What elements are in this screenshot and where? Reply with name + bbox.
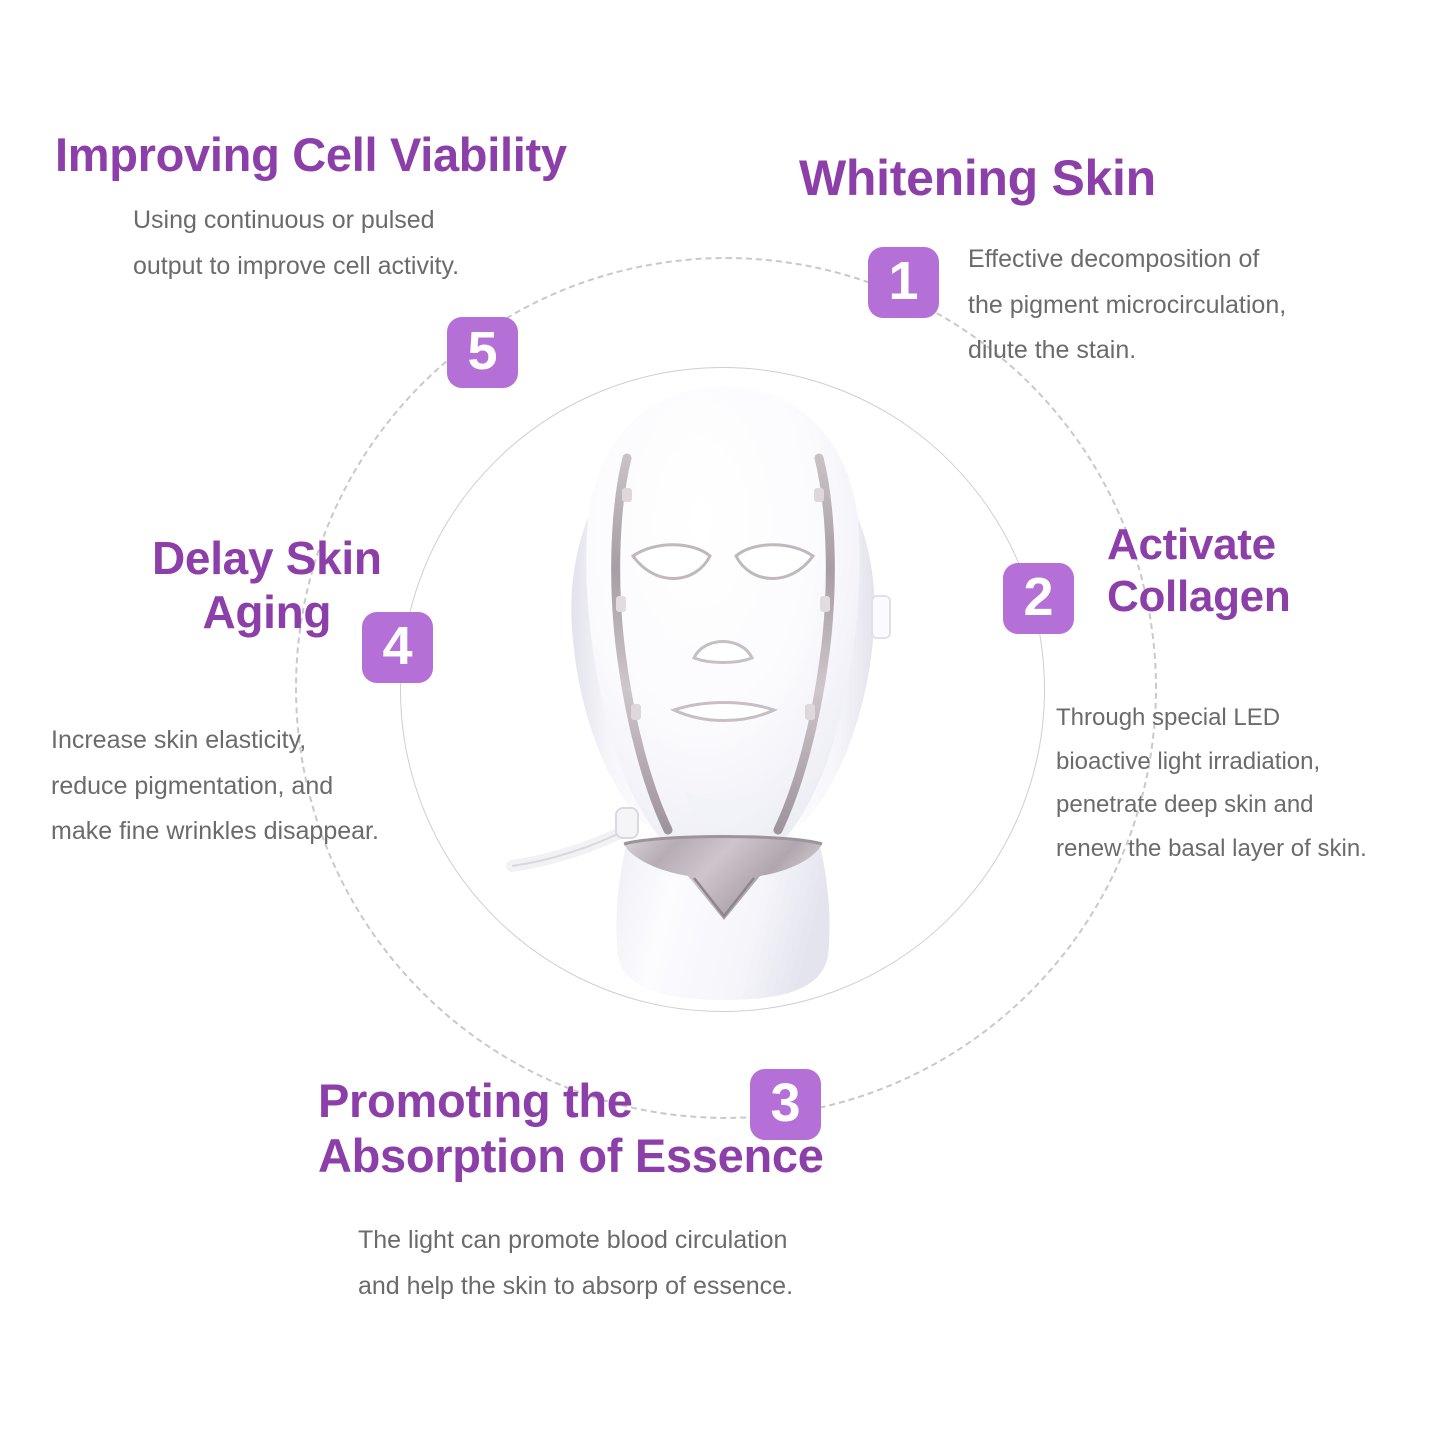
benefit-4-description: Increase skin elasticity, reduce pigment… xyxy=(51,718,379,855)
led-face-neck-mask-image xyxy=(498,360,948,1000)
benefit-3-number-badge: 3 xyxy=(750,1069,821,1140)
benefit-5-title: Improving Cell Viability xyxy=(55,127,567,182)
benefit-2-title: Activate Collagen xyxy=(1107,519,1290,623)
benefit-2-number-badge: 2 xyxy=(1003,563,1074,634)
benefit-5-number-badge: 5 xyxy=(447,317,518,388)
benefit-3-title: Promoting the Absorption of Essence xyxy=(318,1073,824,1184)
benefit-3-description: The light can promote blood circulation … xyxy=(358,1218,793,1309)
benefit-1-description: Effective decomposition of the pigment m… xyxy=(968,237,1286,374)
benefit-4-title: Delay Skin Aging xyxy=(152,531,382,640)
infographic-canvas: Improving Cell Viability Using continuou… xyxy=(0,0,1445,1445)
benefit-2-description: Through special LED bioactive light irra… xyxy=(1056,696,1367,871)
benefit-1-number-badge: 1 xyxy=(868,247,939,318)
benefit-4-number-badge: 4 xyxy=(362,612,433,683)
benefit-1-title: Whitening Skin xyxy=(799,149,1156,208)
benefit-5-description: Using continuous or pulsed output to imp… xyxy=(133,198,459,289)
